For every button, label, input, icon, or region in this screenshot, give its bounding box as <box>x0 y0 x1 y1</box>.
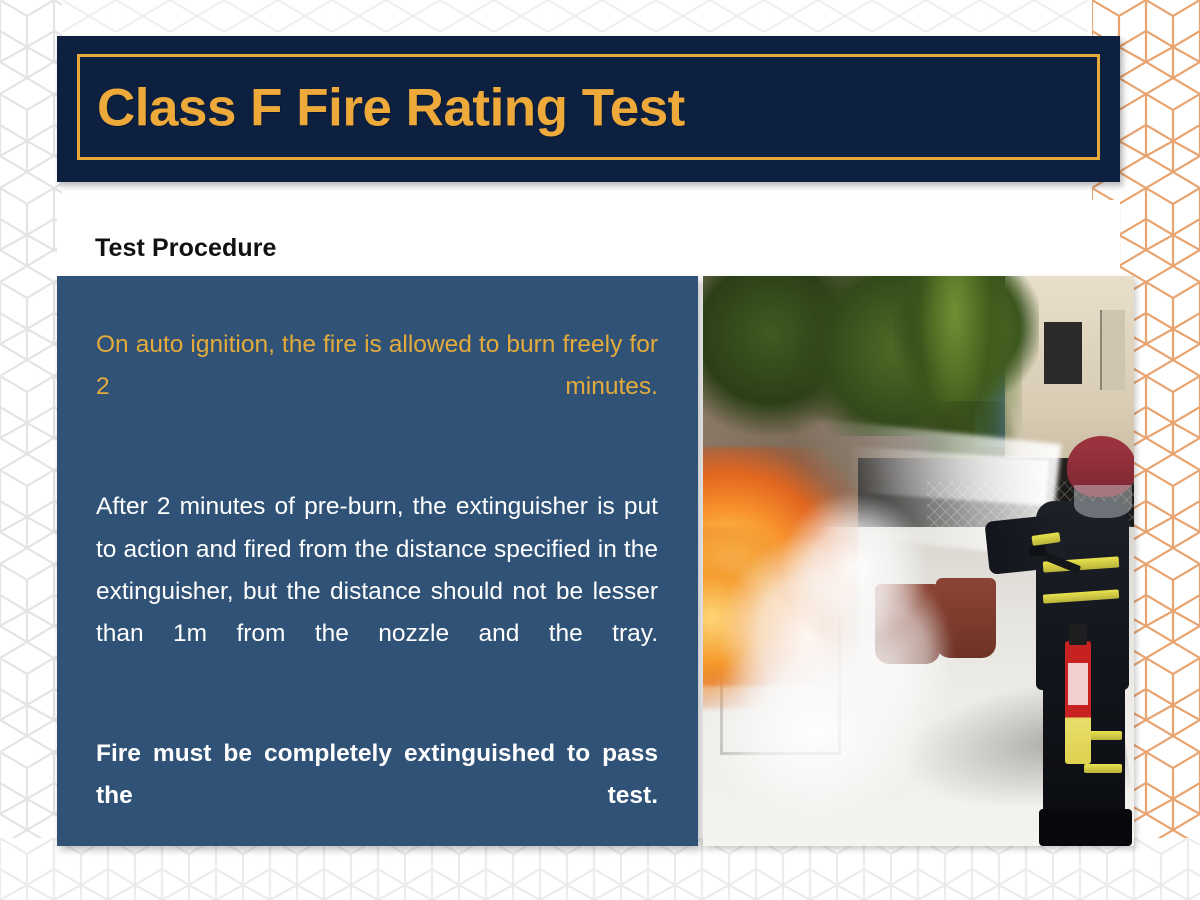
procedure-paragraph-3: Fire must be completely extinguished to … <box>96 733 658 859</box>
window-light <box>1100 310 1126 390</box>
procedure-paragraph-1: On auto ignition, the fire is allowed to… <box>96 324 658 450</box>
helmet-visor <box>1074 485 1133 518</box>
procedure-paragraph-2: After 2 minutes of pre-burn, the extingu… <box>96 486 658 697</box>
smoke-cloud-right <box>832 572 953 743</box>
fire-test-photo <box>703 276 1134 846</box>
title-banner: Class F Fire Rating Test <box>57 36 1120 182</box>
extinguisher-label <box>1068 663 1089 705</box>
fire-extinguisher <box>1065 641 1091 764</box>
photo-scene <box>703 276 1134 846</box>
extinguisher-nozzle <box>1029 546 1047 557</box>
page-title: Class F Fire Rating Test <box>97 77 685 138</box>
slide-canvas: Class F Fire Rating Test Test Procedure … <box>0 0 1200 900</box>
window-dark <box>1044 322 1083 385</box>
reflective-stripe-4 <box>1084 764 1122 773</box>
isometric-cube-lattice-pattern-left-icon <box>0 0 62 900</box>
firefighter <box>970 436 1134 846</box>
extinguisher-valve <box>1069 624 1088 645</box>
firefighter-boot <box>1039 809 1132 846</box>
section-heading: Test Procedure <box>95 234 277 263</box>
isometric-cube-lattice-pattern-top-icon <box>62 0 1092 32</box>
procedure-text-panel: On auto ignition, the fire is allowed to… <box>57 276 698 846</box>
